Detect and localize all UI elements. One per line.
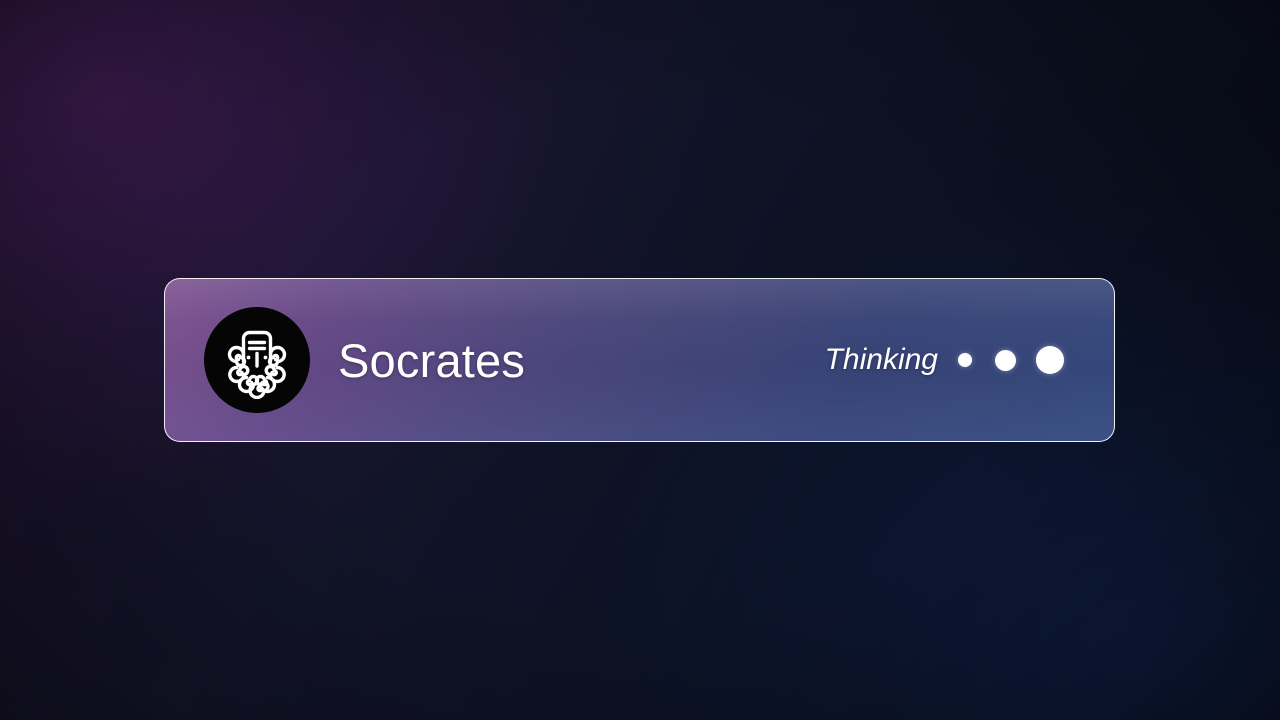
agent-status-card[interactable]: Socrates Thinking — [164, 278, 1115, 442]
thinking-dot-3 — [1036, 346, 1064, 374]
status-label: Thinking — [825, 345, 938, 375]
thinking-dots — [958, 346, 1064, 374]
status-indicator: Thinking — [825, 345, 1064, 375]
app-stage: Socrates Thinking — [0, 0, 1280, 720]
agent-name: Socrates — [338, 337, 525, 384]
socrates-bust-icon — [219, 321, 295, 399]
thinking-dot-2 — [995, 350, 1016, 371]
thinking-dot-1 — [958, 353, 972, 367]
avatar[interactable] — [204, 307, 310, 413]
